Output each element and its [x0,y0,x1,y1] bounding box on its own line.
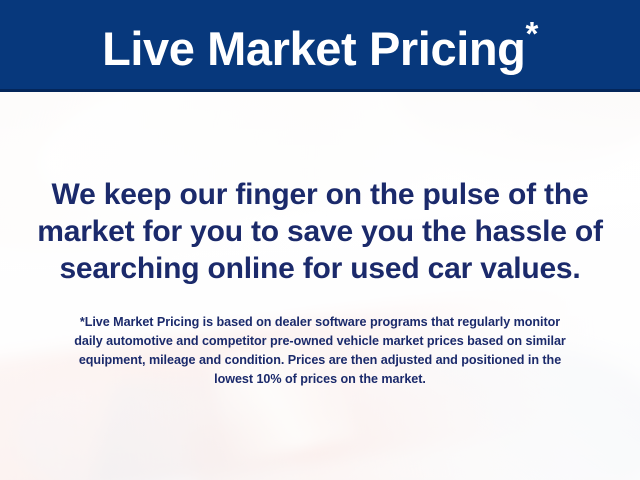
page-title: Live Market Pricing* [102,17,538,75]
headline-line-1: We keep our finger on the pulse of the [28,176,612,213]
content-area: We keep our finger on the pulse of the m… [0,92,640,389]
headline-line-2: market for you to save you the hassle of [28,213,612,250]
disclaimer-text: *Live Market Pricing is based on dealer … [0,287,640,389]
header-band: Live Market Pricing* [0,0,640,92]
page-title-text: Live Market Pricing [102,22,525,75]
page-title-footnote-marker: * [525,15,537,52]
live-market-pricing-banner: Live Market Pricing* We keep our finger … [0,0,640,480]
headline: We keep our finger on the pulse of the m… [0,92,640,287]
disclaimer-line-1: *Live Market Pricing is based on dealer … [34,313,606,332]
headline-line-3: searching online for used car values. [28,250,612,287]
disclaimer-line-4: lowest 10% of prices on the market. [34,370,606,389]
disclaimer-line-2: daily automotive and competitor pre-owne… [34,332,606,351]
disclaimer-line-3: equipment, mileage and condition. Prices… [34,351,606,370]
